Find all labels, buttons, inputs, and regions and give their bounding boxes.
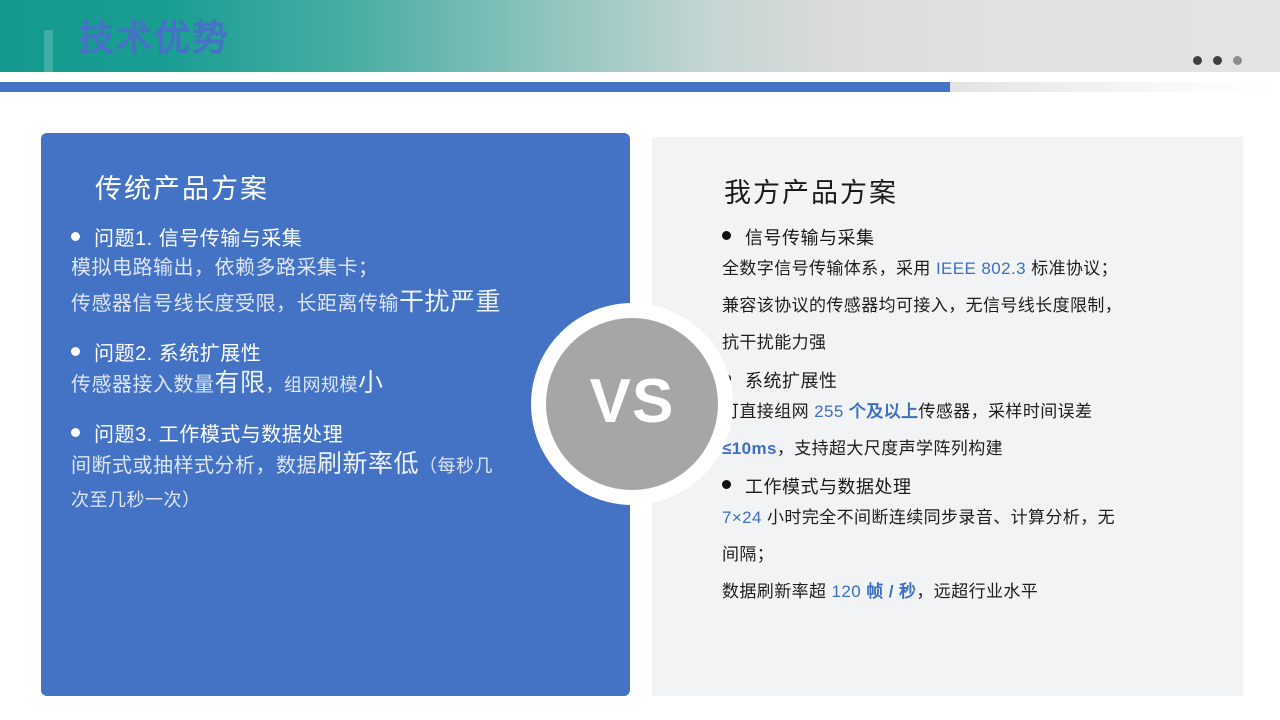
right-group-2: 系统扩展性可直接组网 255 个及以上传感器，采样时间误差≤10ms，支持超大尺… bbox=[722, 367, 1223, 467]
left-bullet-row-3: 问题3. 工作模式与数据处理 bbox=[71, 418, 596, 447]
dot-icon-1 bbox=[1193, 56, 1202, 65]
right-group-3: 工作模式与数据处理7×24 小时完全不间断连续同步录音、计算分析，无间隔；数据刷… bbox=[722, 473, 1223, 610]
header-accent-tick bbox=[44, 30, 53, 72]
bullet-dot-icon bbox=[71, 428, 80, 437]
right-bullet-label-3: 工作模式与数据处理 bbox=[745, 473, 912, 499]
left-body-line-2-1: 传感器接入数量有限，组网规模小 bbox=[71, 366, 596, 402]
left-bullet-label-1: 问题1. 信号传输与采集 bbox=[94, 222, 302, 251]
text-segment: 模拟电路输出，依赖多路采集卡； bbox=[71, 257, 379, 279]
our-panel-groups: 信号传输与采集全数字信号传输体系，采用 IEEE 802.3 标准协议；兼容该协… bbox=[722, 224, 1223, 610]
right-bullet-row-1: 信号传输与采集 bbox=[722, 224, 1223, 250]
slide-root: 技术优势 传统产品方案 问题1. 信号传输与采集模拟电路输出，依赖多路采集卡；传… bbox=[0, 0, 1280, 720]
header-white-strip bbox=[0, 72, 668, 82]
right-bullet-label-1: 信号传输与采集 bbox=[745, 224, 875, 250]
our-panel-title: 我方产品方案 bbox=[724, 171, 1223, 210]
text-segment: 抗干扰能力强 bbox=[722, 333, 826, 352]
header-accent-rule bbox=[0, 82, 950, 92]
text-segment: 255 bbox=[814, 402, 844, 421]
text-segment: 间断式或抽样式分析，数据 bbox=[71, 455, 317, 477]
text-segment: 全数字信号传输体系，采用 bbox=[722, 259, 936, 278]
text-segment: 标准协议； bbox=[1026, 259, 1118, 278]
right-bullet-row-3: 工作模式与数据处理 bbox=[722, 473, 1223, 499]
page-title: 技术优势 bbox=[78, 16, 230, 60]
bullet-dot-icon bbox=[71, 347, 80, 356]
left-body-line-3-1: 间断式或抽样式分析，数据刷新率低（每秒几 bbox=[71, 447, 596, 483]
right-body-line-1-1: 全数字信号传输体系，采用 IEEE 802.3 标准协议； bbox=[722, 250, 1223, 287]
text-segment: ≤10ms bbox=[722, 439, 777, 458]
text-segment: ，支持超大尺度声学阵列构建 bbox=[777, 439, 1003, 458]
right-body-line-1-2: 兼容该协议的传感器均可接入，无信号线长度限制， bbox=[722, 287, 1223, 324]
text-segment: 帧 / 秒 bbox=[861, 582, 916, 601]
right-group-1: 信号传输与采集全数字信号传输体系，采用 IEEE 802.3 标准协议；兼容该协… bbox=[722, 224, 1223, 361]
left-bullet-row-2: 问题2. 系统扩展性 bbox=[71, 337, 596, 366]
text-segment: 数据刷新率超 bbox=[722, 582, 832, 601]
left-group-1: 问题1. 信号传输与采集模拟电路输出，依赖多路采集卡；传感器信号线长度受限，长距… bbox=[71, 222, 596, 321]
text-segment: 间隔； bbox=[722, 545, 774, 564]
text-segment: 干扰严重 bbox=[399, 288, 501, 316]
text-segment: 刷新率低 bbox=[317, 450, 419, 478]
left-bullet-label-2: 问题2. 系统扩展性 bbox=[94, 337, 261, 366]
text-segment: 传感器，采样时间误差 bbox=[918, 402, 1092, 421]
bullet-dot-icon bbox=[71, 232, 80, 241]
text-segment: 传感器信号线长度受限，长距离传输 bbox=[71, 293, 399, 315]
legacy-panel-groups: 问题1. 信号传输与采集模拟电路输出，依赖多路采集卡；传感器信号线长度受限，长距… bbox=[71, 222, 596, 517]
text-segment: 个及以上 bbox=[844, 402, 919, 421]
vs-badge: VS bbox=[546, 318, 718, 490]
right-body-line-3-2: 间隔； bbox=[722, 536, 1223, 573]
header-rule-tail bbox=[950, 82, 1280, 92]
text-segment: 小 bbox=[358, 369, 384, 397]
text-segment: 可直接组网 bbox=[722, 402, 814, 421]
left-body-line-1-2: 传感器信号线长度受限，长距离传输干扰严重 bbox=[71, 285, 596, 321]
dot-icon-2 bbox=[1213, 56, 1222, 65]
right-body-line-2-2: ≤10ms，支持超大尺度声学阵列构建 bbox=[722, 430, 1223, 467]
dot-icon-3 bbox=[1233, 56, 1242, 65]
left-group-3: 问题3. 工作模式与数据处理间断式或抽样式分析，数据刷新率低（每秒几次至几秒一次… bbox=[71, 418, 596, 517]
text-segment: （每秒几 bbox=[419, 456, 493, 476]
text-segment: 有限 bbox=[215, 369, 266, 397]
left-bullet-row-1: 问题1. 信号传输与采集 bbox=[71, 222, 596, 251]
left-body-line-3-2: 次至几秒一次） bbox=[71, 483, 596, 517]
vs-badge-label: VS bbox=[590, 371, 675, 433]
legacy-panel-title: 传统产品方案 bbox=[95, 167, 596, 206]
header-dots-group bbox=[1193, 56, 1242, 65]
text-segment: 兼容该协议的传感器均可接入，无信号线长度限制， bbox=[722, 296, 1122, 315]
right-bullet-row-2: 系统扩展性 bbox=[722, 367, 1223, 393]
bullet-dot-icon bbox=[722, 480, 731, 489]
text-segment: ，远超行业水平 bbox=[916, 582, 1038, 601]
right-body-line-1-3: 抗干扰能力强 bbox=[722, 324, 1223, 361]
left-body-line-1-1: 模拟电路输出，依赖多路采集卡； bbox=[71, 251, 596, 285]
text-segment: 传感器接入数量 bbox=[71, 374, 215, 396]
left-bullet-label-3: 问题3. 工作模式与数据处理 bbox=[94, 418, 343, 447]
text-segment: 小时完全不间断连续同步录音、计算分析，无 bbox=[762, 508, 1115, 527]
right-body-line-3-3: 数据刷新率超 120 帧 / 秒，远超行业水平 bbox=[722, 573, 1223, 610]
our-solution-panel: 我方产品方案 信号传输与采集全数字信号传输体系，采用 IEEE 802.3 标准… bbox=[652, 137, 1243, 696]
right-body-line-2-1: 可直接组网 255 个及以上传感器，采样时间误差 bbox=[722, 393, 1223, 430]
bullet-dot-icon bbox=[722, 231, 731, 240]
left-group-2: 问题2. 系统扩展性传感器接入数量有限，组网规模小 bbox=[71, 337, 596, 402]
text-segment: 120 bbox=[832, 582, 862, 601]
right-bullet-label-2: 系统扩展性 bbox=[745, 367, 838, 393]
text-segment: 次至几秒一次） bbox=[71, 490, 201, 510]
text-segment: IEEE 802.3 bbox=[936, 259, 1026, 278]
right-body-line-3-1: 7×24 小时完全不间断连续同步录音、计算分析，无 bbox=[722, 499, 1223, 536]
text-segment: ，组网规模 bbox=[266, 375, 359, 395]
text-segment: 7×24 bbox=[722, 508, 762, 527]
